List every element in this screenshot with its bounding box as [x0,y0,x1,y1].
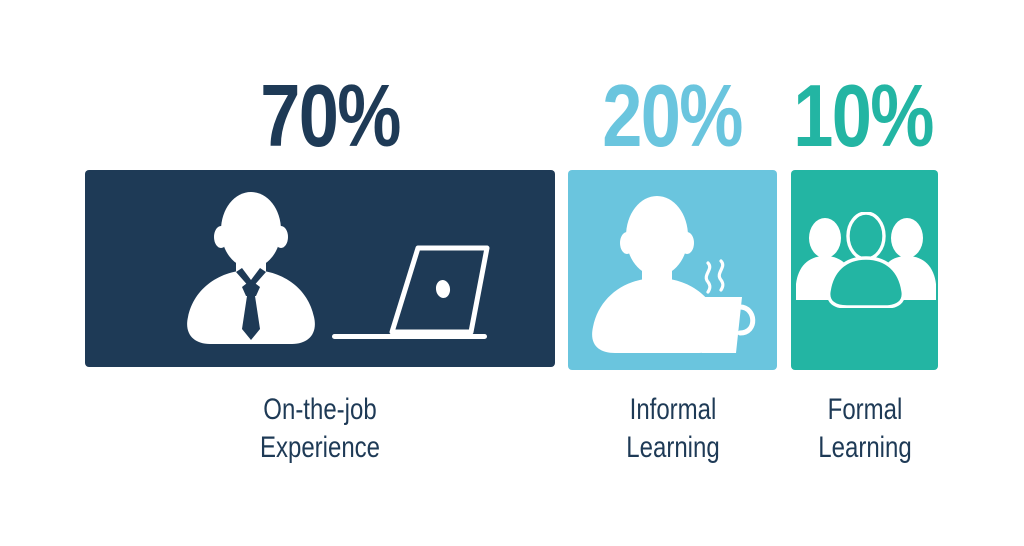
caption-formal: Formal Learning [789,391,941,467]
businessman-with-laptop-icon [180,192,490,347]
segment-panel-informal [568,170,777,370]
caption-informal: Informal Learning [597,391,749,467]
segment-panel-formal [791,170,938,370]
people-group-icon [796,212,936,308]
segment-panel-on-the-job [85,170,555,367]
percent-label-informal: 20% [594,72,750,160]
person-with-coffee-icon [588,195,760,355]
percent-label-on-the-job: 70% [211,72,449,160]
percent-label-formal: 10% [785,72,941,160]
infographic-canvas: 70% 20% 10% [0,0,1024,546]
caption-on-the-job: On-the-job Experience [184,391,456,467]
